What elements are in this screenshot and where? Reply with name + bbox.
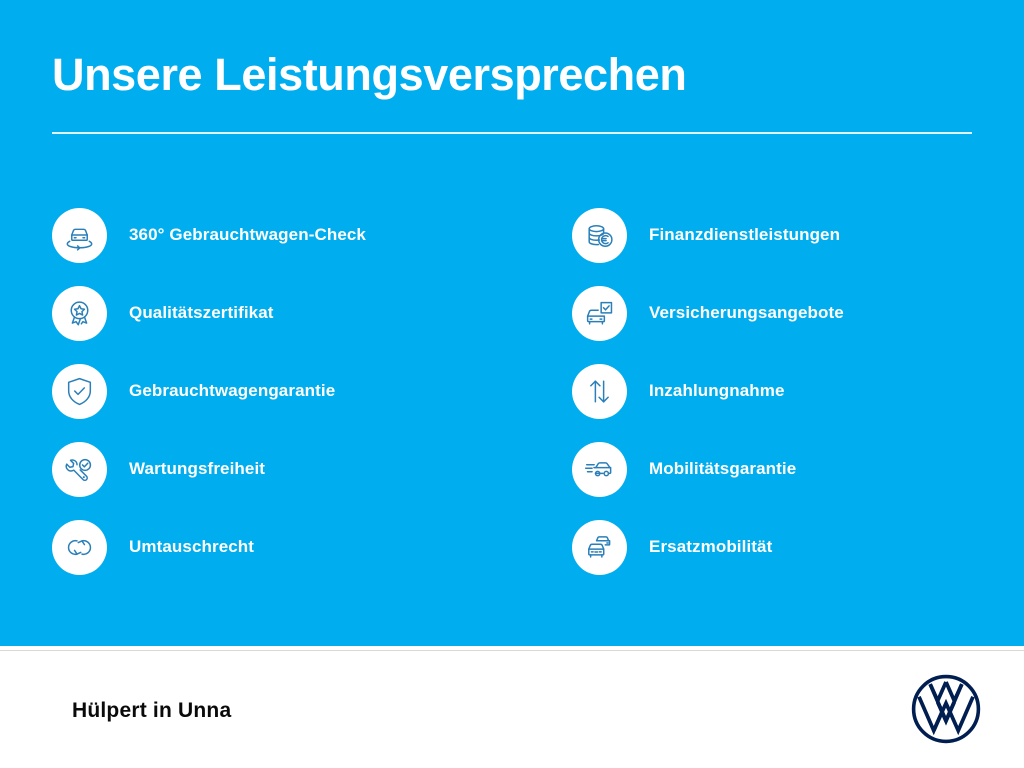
exchange-arrows-icon: [52, 520, 107, 575]
slide-root: Unsere Leistungsversprechen 36: [0, 0, 1024, 768]
promise-label: Qualitätszertifikat: [129, 303, 274, 323]
car-document-check-icon: [572, 286, 627, 341]
award-rosette-icon: [52, 286, 107, 341]
wrench-check-icon: [52, 442, 107, 497]
shield-check-icon: [52, 364, 107, 419]
promises-column-right: Finanzdienstleistungen Versicheru: [512, 196, 1024, 586]
promise-item-versicherungsangebote[interactable]: Versicherungsangebote: [572, 274, 1024, 352]
promise-label: Inzahlungnahme: [649, 381, 785, 401]
promise-item-umtauschrecht[interactable]: Umtauschrecht: [52, 508, 512, 586]
car-motion-icon: [572, 442, 627, 497]
two-cars-icon: [572, 520, 627, 575]
promise-label: Versicherungsangebote: [649, 303, 844, 323]
promise-item-ersatzmobilitaet[interactable]: Ersatzmobilität: [572, 508, 1024, 586]
arrows-up-down-icon: [572, 364, 627, 419]
promise-item-inzahlungnahme[interactable]: Inzahlungnahme: [572, 352, 1024, 430]
promise-label: Gebrauchtwagengarantie: [129, 381, 335, 401]
coins-euro-icon: [572, 208, 627, 263]
promise-item-qualitaetszertifikat[interactable]: Qualitätszertifikat: [52, 274, 512, 352]
promise-label: Umtauschrecht: [129, 537, 254, 557]
promise-label: Ersatzmobilität: [649, 537, 772, 557]
promise-label: 360° Gebrauchtwagen-Check: [129, 225, 366, 245]
promises-column-left: 360° Gebrauchtwagen-Check Qualitätszerti…: [0, 196, 512, 586]
promise-item-finanzdienstleistungen[interactable]: Finanzdienstleistungen: [572, 196, 1024, 274]
promise-label: Finanzdienstleistungen: [649, 225, 840, 245]
promise-item-gebrauchtwagen-check[interactable]: 360° Gebrauchtwagen-Check: [52, 196, 512, 274]
promise-label: Mobilitätsgarantie: [649, 459, 796, 479]
car-360-check-icon: [52, 208, 107, 263]
promise-item-wartungsfreiheit[interactable]: Wartungsfreiheit: [52, 430, 512, 508]
promise-item-gebrauchtwagengarantie[interactable]: Gebrauchtwagengarantie: [52, 352, 512, 430]
promise-item-mobilitaetsgarantie[interactable]: Mobilitätsgarantie: [572, 430, 1024, 508]
dealer-name: Hülpert in Unna: [72, 699, 231, 723]
hero-panel: Unsere Leistungsversprechen 36: [0, 0, 1024, 646]
promise-label: Wartungsfreiheit: [129, 459, 265, 479]
volkswagen-logo: [910, 673, 982, 745]
page-title: Unsere Leistungsversprechen: [52, 48, 686, 102]
promises-grid: 360° Gebrauchtwagen-Check Qualitätszerti…: [0, 196, 1024, 586]
footer-bar: Hülpert in Unna: [0, 651, 1024, 768]
title-divider: [52, 132, 972, 134]
